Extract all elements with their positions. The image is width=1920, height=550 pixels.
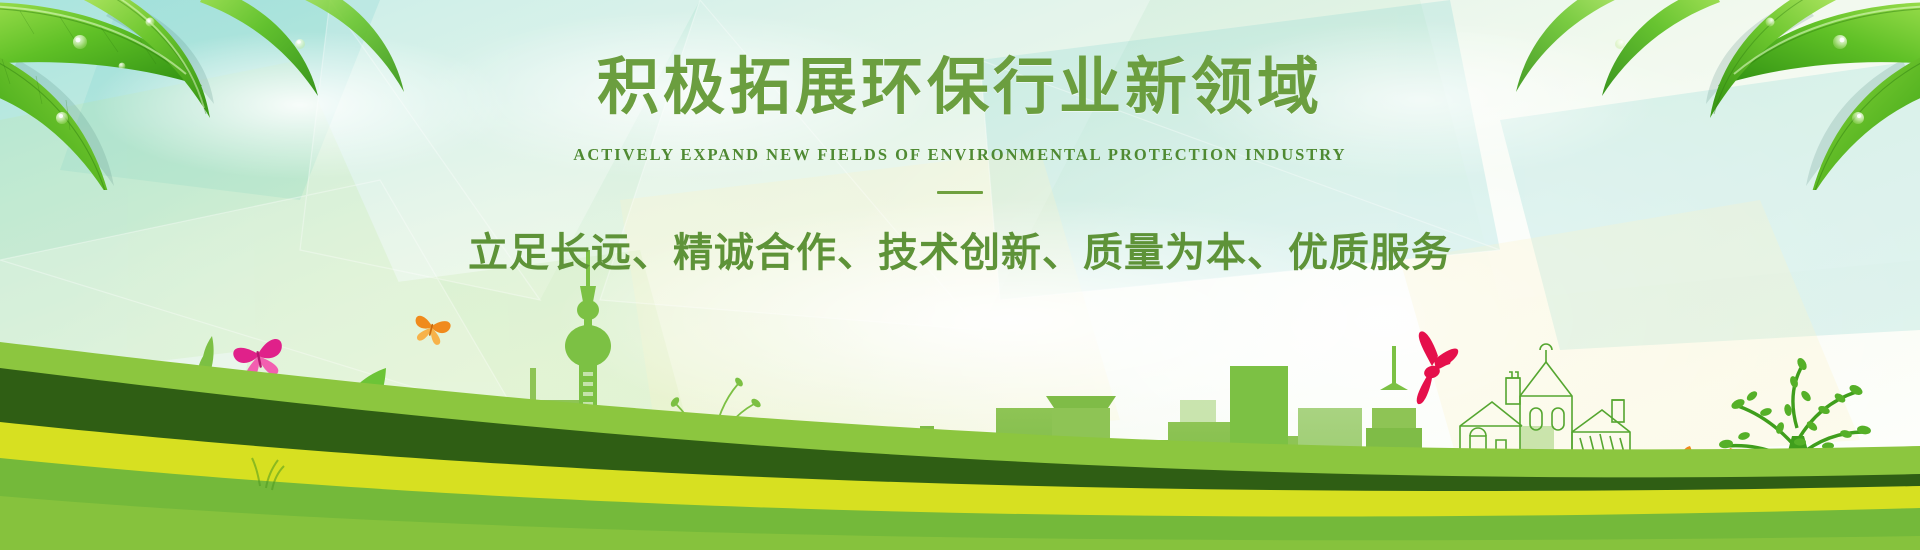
curved-ground-bands	[0, 342, 1920, 550]
page-subtitle: ACTIVELY EXPAND NEW FIELDS OF ENVIRONMEN…	[0, 145, 1920, 165]
divider	[937, 191, 983, 194]
page-title: 积极拓展环保行业新领域	[0, 54, 1920, 123]
eco-banner: 积极拓展环保行业新领域 ACTIVELY EXPAND NEW FIELDS O…	[0, 0, 1920, 550]
company-slogan: 立足长远、精诚合作、技术创新、质量为本、优质服务	[0, 220, 1920, 278]
butterfly-icon	[411, 314, 452, 347]
hummingbird-icon	[1417, 331, 1459, 404]
banner-text-block: 积极拓展环保行业新领域 ACTIVELY EXPAND NEW FIELDS O…	[0, 54, 1920, 278]
eco-scenery	[0, 250, 1920, 550]
